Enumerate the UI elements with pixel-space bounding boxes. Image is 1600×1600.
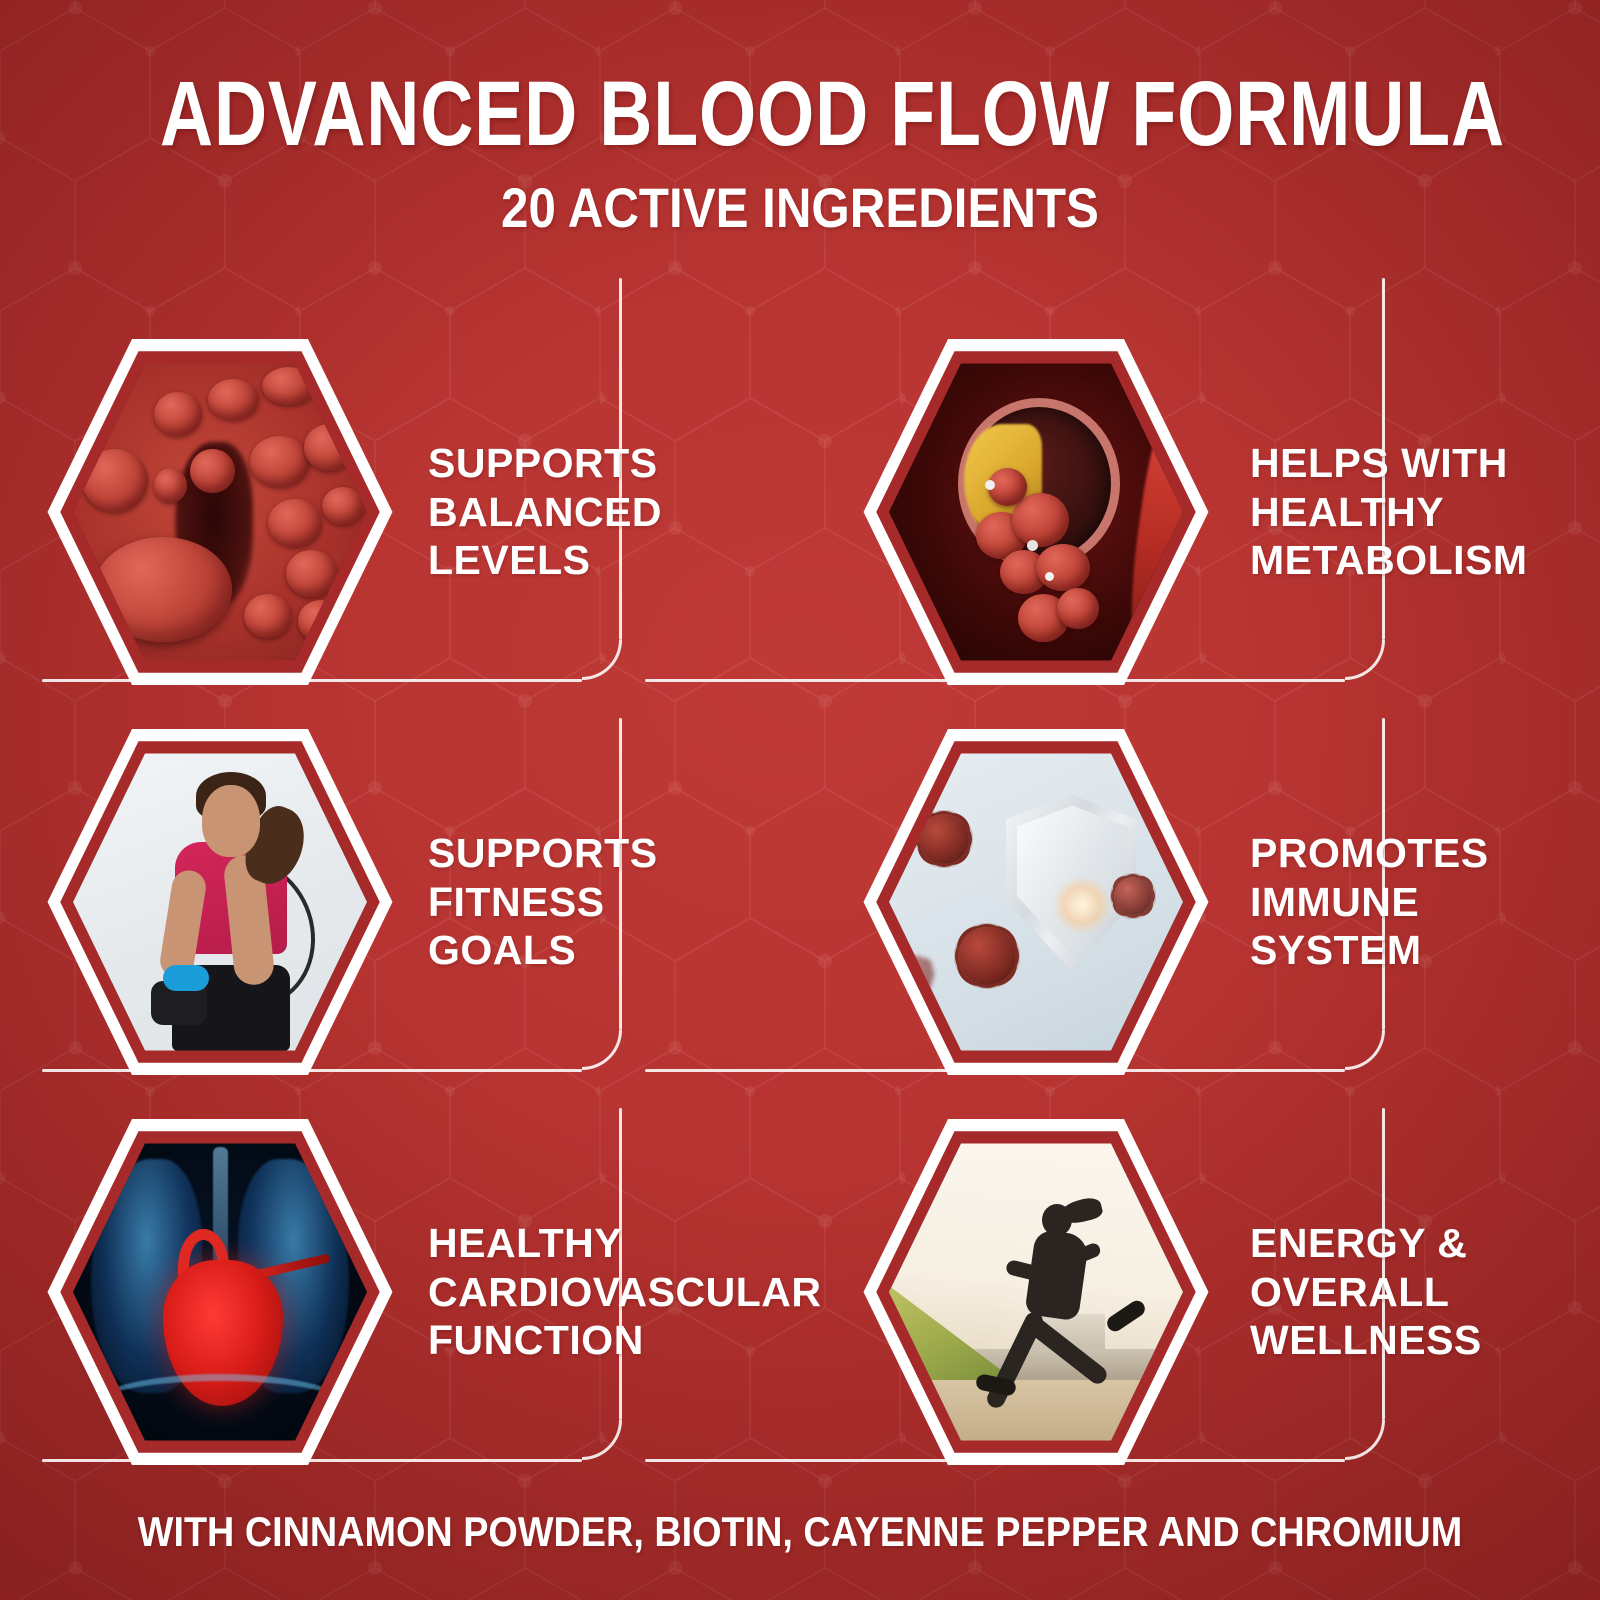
feature-card-energy-and-overall-wellness[interactable]: ENERGY & OVERALL WELLNESS <box>800 1098 1560 1486</box>
feature-label: ENERGY & OVERALL WELLNESS <box>1214 1219 1560 1364</box>
hexagon-badge <box>858 326 1214 698</box>
infographic-page: ADVANCED BLOOD FLOW FORMULA 20 ACTIVE IN… <box>0 0 1600 1600</box>
feature-label: HELPS WITH HEALTHY METABOLISM <box>1214 439 1560 584</box>
header: ADVANCED BLOOD FLOW FORMULA 20 ACTIVE IN… <box>0 0 1600 240</box>
hexagon-badge <box>42 716 398 1088</box>
hexagon-badge <box>858 1106 1214 1478</box>
feature-card-promotes-immune-system[interactable]: PROMOTES IMMUNE SYSTEM <box>800 708 1560 1096</box>
footer-ingredients-text: WITH CINNAMON POWDER, BIOTIN, CAYENNE PE… <box>80 1508 1520 1556</box>
feature-label: SUPPORTS FITNESS GOALS <box>398 829 760 974</box>
feature-label: SUPPORTS BALANCED LEVELS <box>398 439 760 584</box>
hexagon-badge <box>42 1106 398 1478</box>
hexagon-badge <box>42 326 398 698</box>
page-subtitle: 20 ACTIVE INGREDIENTS <box>96 175 1504 240</box>
feature-label: HEALTHY CARDIOVASCULAR FUNCTION <box>398 1219 841 1364</box>
feature-grid: SUPPORTS BALANCED LEVELS <box>0 318 1600 1488</box>
feature-card-supports-fitness-goals[interactable]: SUPPORTS FITNESS GOALS <box>0 708 760 1096</box>
feature-card-supports-balanced-levels[interactable]: SUPPORTS BALANCED LEVELS <box>0 318 760 706</box>
feature-label: PROMOTES IMMUNE SYSTEM <box>1214 829 1560 974</box>
hexagon-badge <box>858 716 1214 1088</box>
virus-icon <box>958 927 1016 985</box>
feature-card-helps-with-healthy-metabolism[interactable]: HELPS WITH HEALTHY METABOLISM <box>800 318 1560 706</box>
feature-card-healthy-cardiovascular-function[interactable]: HEALTHY CARDIOVASCULAR FUNCTION <box>0 1098 760 1486</box>
virus-icon <box>1114 877 1152 915</box>
page-title: ADVANCED BLOOD FLOW FORMULA <box>160 72 1440 157</box>
